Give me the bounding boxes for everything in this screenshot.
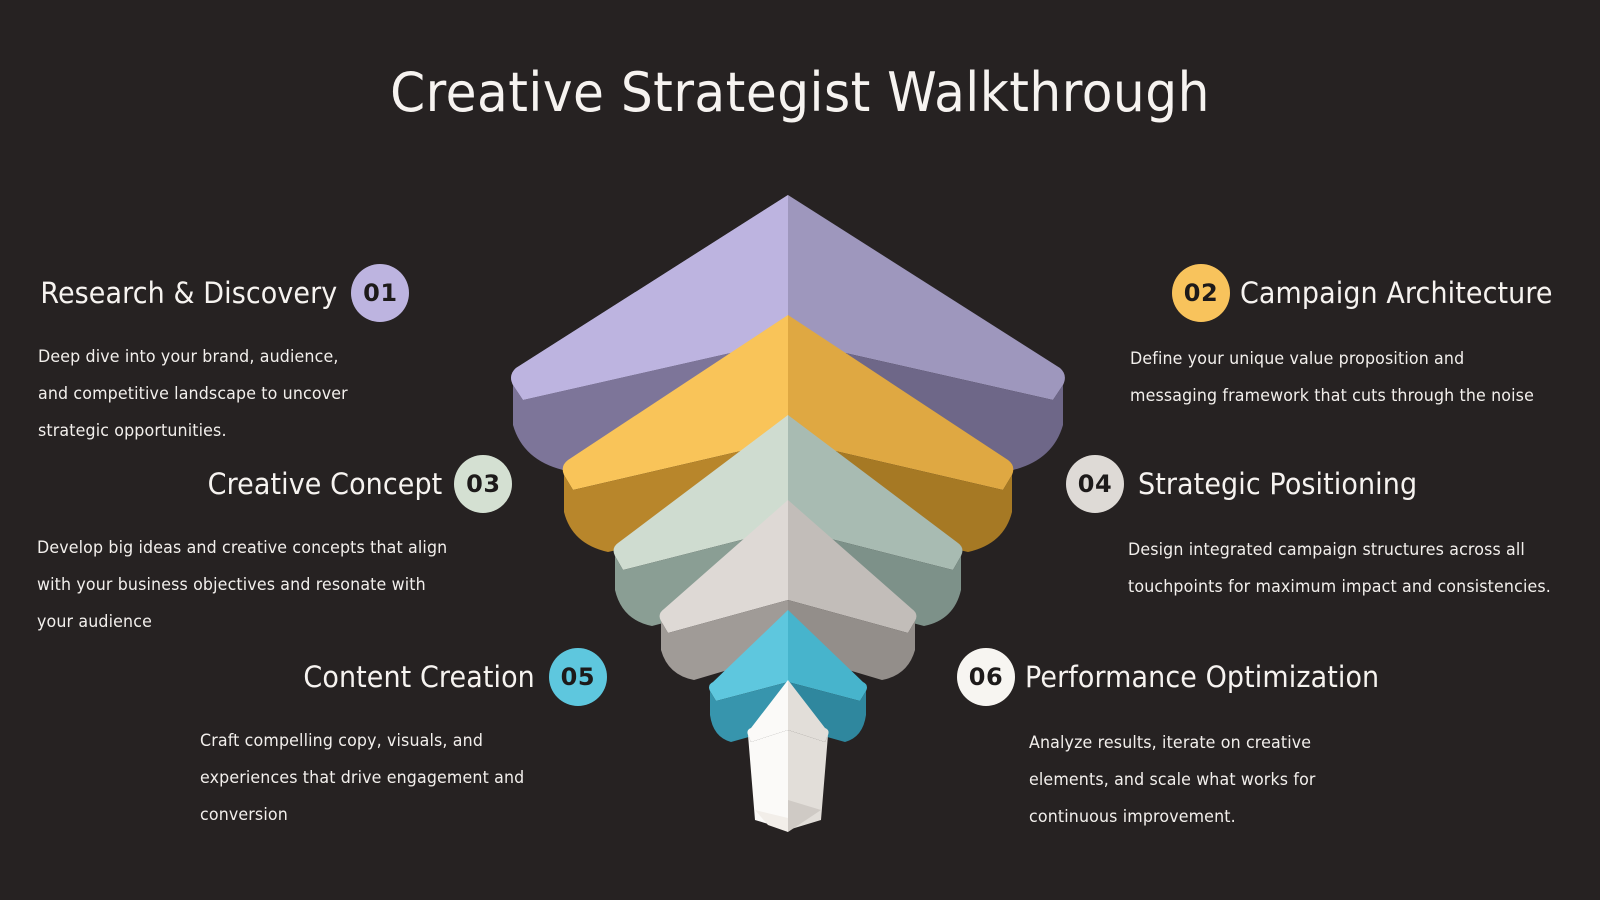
step-01-title: Research & Discovery <box>40 276 337 310</box>
step-05-description: Craft compelling copy, visuals, and expe… <box>200 722 591 833</box>
step-04-header: 04 Strategic Positioning <box>1066 455 1569 513</box>
infographic-canvas: Creative Strategist Walkthrough <box>0 0 1600 900</box>
step-01-description: Deep dive into your brand, audience, and… <box>38 338 394 449</box>
step-04-description: Design integrated campaign structures ac… <box>1128 531 1551 605</box>
step-05-header: Content Creation 05 <box>286 648 607 706</box>
step-06-badge: 06 <box>957 648 1015 706</box>
step-02-description: Define your unique value proposition and… <box>1130 340 1558 414</box>
step-03-title: Creative Concept <box>208 467 443 501</box>
step-04-title: Strategic Positioning <box>1138 467 1417 501</box>
step-06-title: Performance Optimization <box>1025 660 1379 694</box>
step-01-header: Research & Discovery 01 <box>18 264 409 322</box>
step-05-badge: 05 <box>549 648 607 706</box>
step-02-title: Campaign Architecture <box>1240 276 1553 310</box>
page-title: Creative Strategist Walkthrough <box>56 62 1544 124</box>
step-01[interactable]: Research & Discovery 01 Deep dive into y… <box>18 264 409 449</box>
step-03[interactable]: Creative Concept 03 Develop big ideas an… <box>190 455 512 640</box>
step-05[interactable]: Content Creation 05 Craft compelling cop… <box>286 648 607 833</box>
step-03-badge: 03 <box>454 455 512 513</box>
step-04[interactable]: 04 Strategic Positioning Design integrat… <box>1066 455 1569 605</box>
step-02[interactable]: 02 Campaign Architecture Define your uni… <box>1172 264 1576 414</box>
step-03-description: Develop big ideas and creative concepts … <box>37 529 493 640</box>
step-02-badge: 02 <box>1172 264 1230 322</box>
step-02-header: 02 Campaign Architecture <box>1172 264 1576 322</box>
step-04-badge: 04 <box>1066 455 1124 513</box>
step-03-header: Creative Concept 03 <box>190 455 512 513</box>
step-05-title: Content Creation <box>303 660 534 694</box>
step-06-description: Analyze results, iterate on creative ele… <box>1029 724 1391 835</box>
step-06-header: 06 Performance Optimization <box>957 648 1406 706</box>
step-06[interactable]: 06 Performance Optimization Analyze resu… <box>957 648 1406 835</box>
step-01-badge: 01 <box>351 264 409 322</box>
